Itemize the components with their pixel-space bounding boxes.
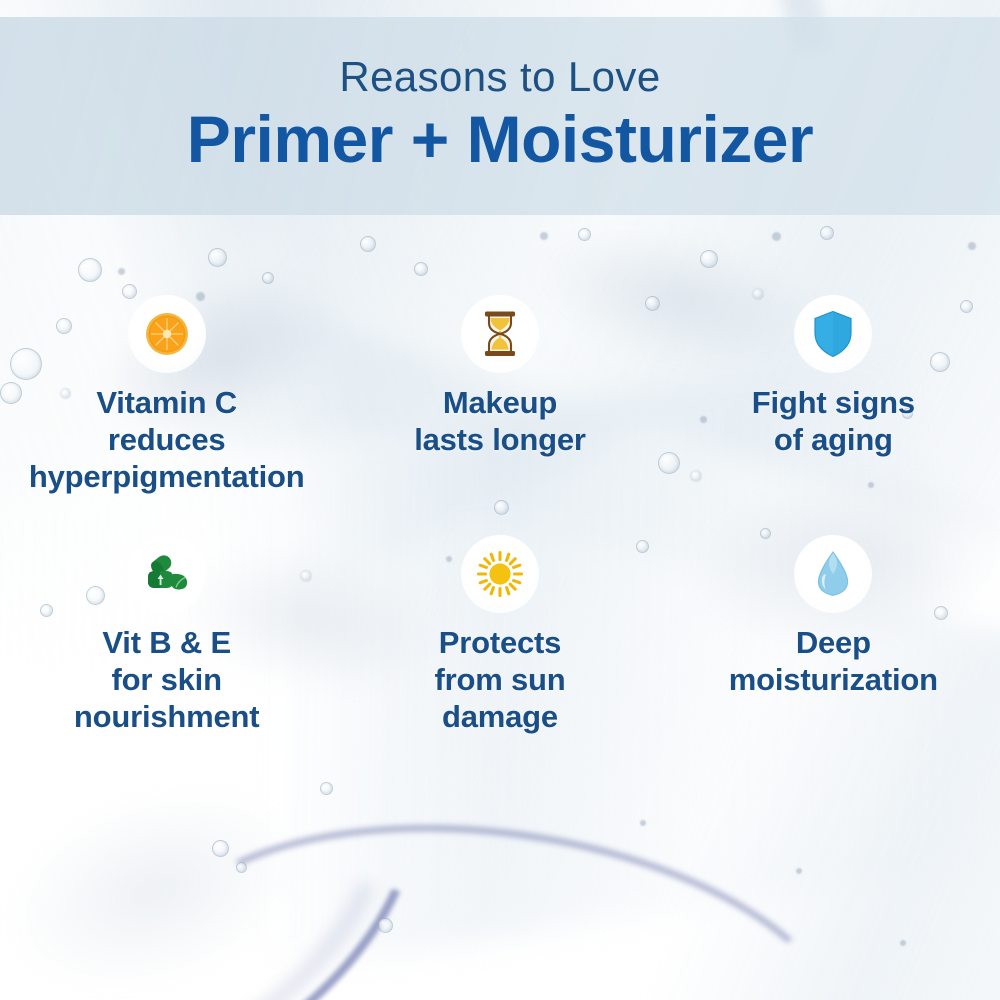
- icon-badge: [461, 535, 539, 613]
- benefit-item: Fight signs of aging: [667, 295, 1000, 535]
- benefit-label: Protects from sun damage: [434, 625, 565, 736]
- benefit-item: Deep moisturization: [667, 535, 1000, 775]
- icon-badge: [794, 295, 872, 373]
- sun-icon: [476, 550, 524, 598]
- promo-poster: Reasons to Love Primer + Moisturizer: [0, 0, 1000, 1000]
- benefit-label: Vitamin C reduces hyperpigmentation: [29, 385, 305, 496]
- benefit-label: Vit B & E for skin nourishment: [74, 625, 260, 736]
- benefit-label: Fight signs of aging: [752, 385, 915, 459]
- page-title: Primer + Moisturizer: [187, 104, 813, 175]
- header-eyebrow: Reasons to Love: [339, 56, 660, 98]
- benefits-grid: Vitamin C reduces hyperpigmentation: [0, 295, 1000, 775]
- benefit-item: Protects from sun damage: [333, 535, 666, 775]
- herbal-capsule-leaf-icon: [143, 552, 191, 596]
- benefit-label: Deep moisturization: [729, 625, 938, 699]
- icon-badge: [128, 295, 206, 373]
- water-drop-icon: [815, 550, 851, 598]
- icon-badge: [128, 535, 206, 613]
- benefit-item: Vit B & E for skin nourishment: [0, 535, 333, 775]
- hourglass-icon: [480, 310, 520, 358]
- header-band: Reasons to Love Primer + Moisturizer: [0, 17, 1000, 215]
- icon-badge: [794, 535, 872, 613]
- benefit-item: Vitamin C reduces hyperpigmentation: [0, 295, 333, 535]
- icon-badge: [461, 295, 539, 373]
- shield-icon: [812, 310, 854, 358]
- benefit-item: Makeup lasts longer: [333, 295, 666, 535]
- benefit-label: Makeup lasts longer: [414, 385, 586, 459]
- orange-slice-icon: [144, 311, 190, 357]
